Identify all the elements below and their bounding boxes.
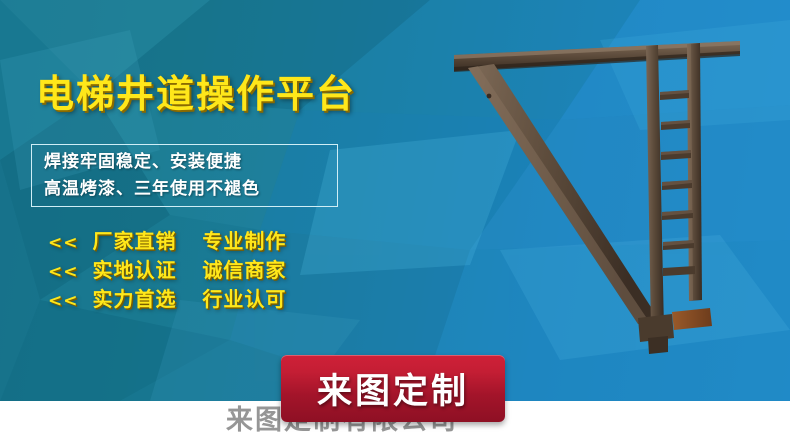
list-item-text-b: 专业制作 <box>202 229 286 253</box>
chevron-left-icon: << <box>48 233 79 253</box>
feature-line-2: 高温烤漆、三年使用不褪色 <box>44 176 327 203</box>
chevron-left-icon: << <box>48 291 79 311</box>
list-item-text-b: 行业认可 <box>202 287 286 311</box>
chevron-left-icon: << <box>48 262 79 282</box>
list-item: << 厂家直销 专业制作 <box>48 228 286 257</box>
promo-banner: 电梯井道操作平台 焊接牢固稳定、安装便捷 高温烤漆、三年使用不褪色 << 厂家直… <box>0 0 790 442</box>
custom-order-button-label: 来图定制 <box>317 363 469 414</box>
product-image <box>410 0 790 401</box>
page-title: 电梯井道操作平台 <box>36 63 356 118</box>
list-item-text-a: 厂家直销 <box>92 229 176 253</box>
list-item-text-a: 实地认证 <box>92 258 176 282</box>
feature-box: 焊接牢固稳定、安装便捷 高温烤漆、三年使用不褪色 <box>31 144 338 207</box>
feature-line-1: 焊接牢固稳定、安装便捷 <box>44 149 327 176</box>
custom-order-button[interactable]: 来图定制 <box>281 355 505 422</box>
list-item-text-b: 诚信商家 <box>202 258 286 282</box>
selling-points-list: << 厂家直销 专业制作 << 实地认证 诚信商家 << 实力首选 行业认可 <box>48 228 286 315</box>
list-item: << 实力首选 行业认可 <box>48 286 286 315</box>
list-item: << 实地认证 诚信商家 <box>48 257 286 286</box>
list-item-text-a: 实力首选 <box>92 287 176 311</box>
